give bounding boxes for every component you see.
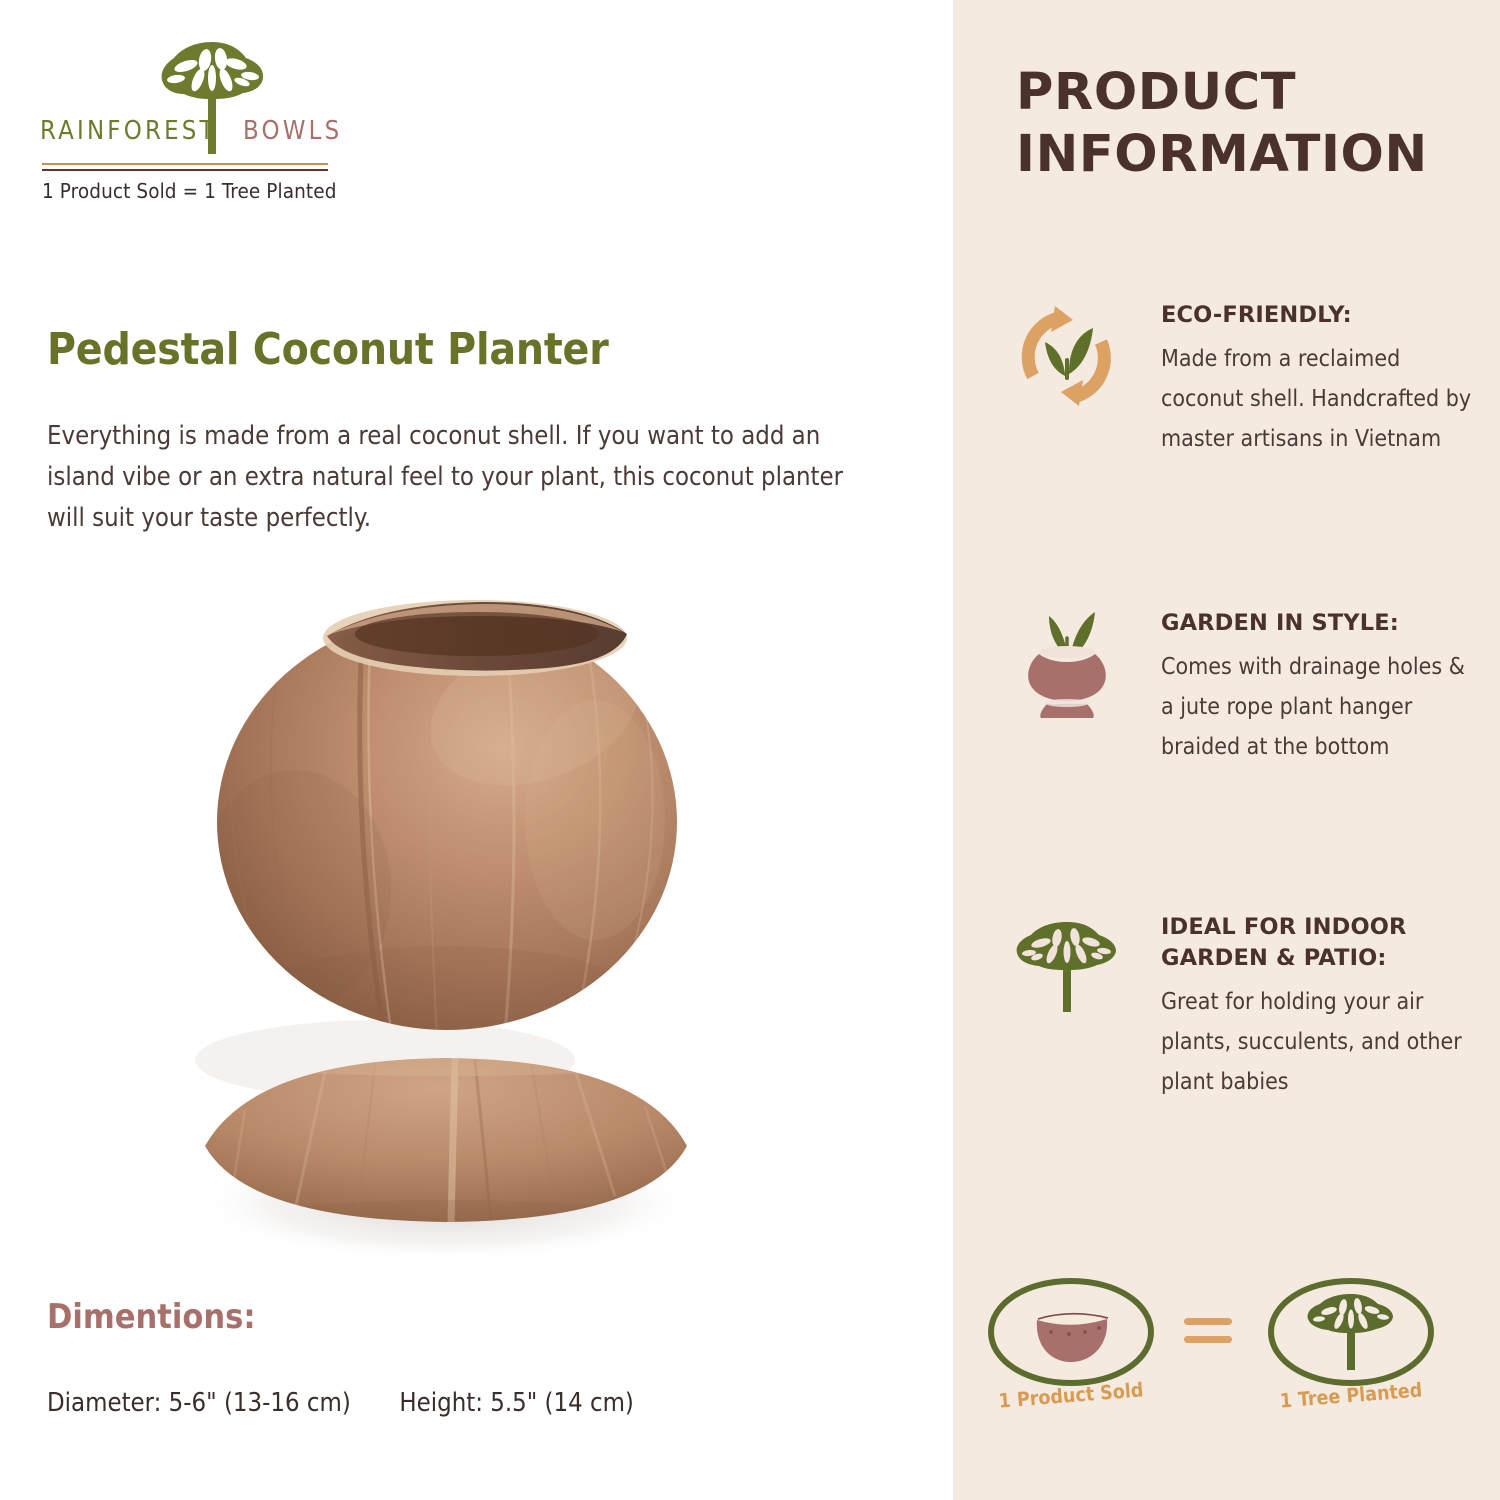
feature-heading: ECO-FRIENDLY: [1161, 300, 1481, 331]
dimension-height: Height: 5.5" (14 cm) [399, 1388, 634, 1418]
coconut-bowl-oval-icon [981, 1272, 1161, 1392]
pledge-badges: 1 Product Sold [953, 1272, 1500, 1472]
badge-product-sold: 1 Product Sold [981, 1272, 1161, 1392]
brand-logo[interactable]: RAINFOREST BOWLS 1 Product Sold = 1 Tree… [40, 34, 330, 159]
tree-oval-icon [1261, 1272, 1441, 1392]
panel-title: PRODUCT INFORMATION [1016, 62, 1500, 186]
feature-text-block: GARDEN IN STYLE: Comes with drainage hol… [1161, 608, 1481, 767]
equals-bar-top [1184, 1318, 1232, 1325]
recycle-leaf-icon [1011, 300, 1123, 412]
product-information-panel: PRODUCT INFORMATION [953, 0, 1500, 1500]
logo-word-bowls: BOWLS [243, 116, 342, 146]
feature-text-block: IDEAL FOR INDOOR GARDEN & PATIO: Great f… [1161, 912, 1481, 1102]
feature-text-block: ECO-FRIENDLY: Made from a reclaimed coco… [1161, 300, 1481, 459]
feature-heading: GARDEN IN STYLE: [1161, 608, 1481, 639]
dimensions-heading: Dimentions: [47, 1297, 256, 1337]
left-content-column: RAINFOREST BOWLS 1 Product Sold = 1 Tree… [0, 0, 953, 1500]
product-title: Pedestal Coconut Planter [47, 324, 609, 375]
logo-wordmark-row: RAINFOREST BOWLS [40, 34, 330, 159]
feature-body: Made from a reclaimed coconut shell. Han… [1161, 339, 1481, 459]
dimension-diameter: Diameter: 5-6" (13-16 cm) [47, 1388, 351, 1418]
product-description: Everything is made from a real coconut s… [47, 416, 877, 539]
equals-bar-bottom [1184, 1336, 1232, 1343]
product-photo [175, 590, 735, 1270]
feature-body: Comes with drainage holes & a jute rope … [1161, 647, 1481, 767]
logo-divider-bottom [42, 169, 328, 171]
logo-tagline: 1 Product Sold = 1 Tree Planted [42, 179, 337, 203]
equals-icon [1181, 1312, 1241, 1352]
product-infographic: RAINFOREST BOWLS 1 Product Sold = 1 Tree… [0, 0, 1500, 1500]
acacia-tree-icon [1011, 912, 1123, 1024]
logo-word-rainforest: RAINFOREST [40, 116, 217, 146]
feature-heading: IDEAL FOR INDOOR GARDEN & PATIO: [1161, 912, 1481, 974]
badge-tree-planted: 1 Tree Planted [1261, 1272, 1441, 1392]
dimensions-values: Diameter: 5-6" (13-16 cm) Height: 5.5" (… [47, 1388, 634, 1418]
pedestal-planter-icon [1011, 608, 1123, 720]
feature-body: Great for holding your air plants, succu… [1161, 982, 1481, 1102]
logo-divider-top [42, 163, 328, 165]
